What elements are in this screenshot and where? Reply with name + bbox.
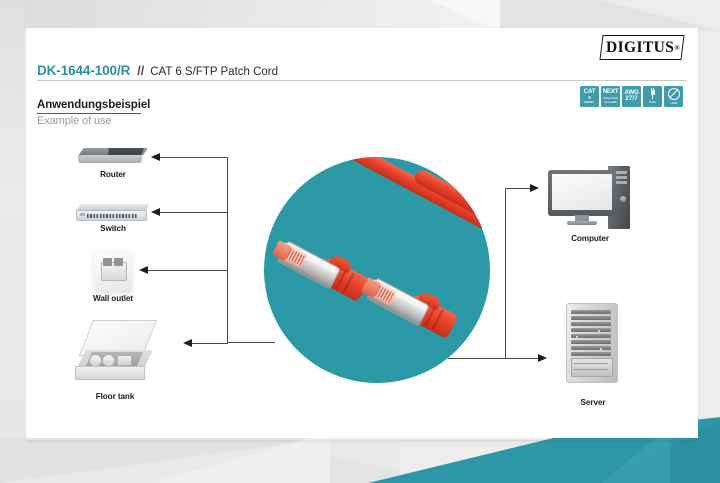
arrow-floor-tank — [183, 339, 192, 347]
title-separator: // — [137, 64, 144, 78]
left-trunk-to-circle — [227, 342, 275, 343]
product-sku: DK-1644-100/R — [37, 63, 130, 78]
digitus-logo: DIGITUS® — [601, 35, 683, 60]
section-heading-en: Example of use — [37, 115, 111, 127]
switch-port-array — [87, 214, 137, 218]
patch-cord-photo — [264, 157, 490, 383]
branch-line-switch — [160, 212, 228, 213]
product-name: CAT 6 S/FTP Patch Cord — [150, 66, 278, 78]
spec-badge-row: CAT 6 ISO/IEC NEXT Power Sum Crosstalk A… — [580, 86, 683, 107]
branch-line-router — [160, 157, 228, 158]
logo-wordmark: DIGITUS — [606, 39, 674, 57]
device-wall-outlet — [94, 253, 132, 293]
left-trunk-line — [227, 157, 228, 343]
section-heading-de: Anwendungsbeispiel — [37, 99, 150, 111]
poe-badge: PoE+ — [643, 86, 662, 107]
label-floor-tank: Floor tank — [78, 392, 152, 401]
wall-outlet-jack-2 — [114, 258, 123, 266]
next-badge: NEXT Power Sum Crosstalk — [601, 86, 620, 107]
right-circle-to-trunk — [448, 358, 506, 359]
floor-tank-data-jack — [117, 355, 132, 366]
branch-line-server — [505, 358, 539, 359]
device-computer — [548, 170, 632, 230]
datasheet-page: DIGITUS® DK-1644-100/R // CAT 6 S/FTP Pa… — [0, 0, 720, 483]
label-switch: Switch — [76, 224, 150, 233]
branch-line-floor-tank — [192, 343, 228, 344]
section-heading-underline — [37, 113, 141, 114]
computer-monitor-screen — [552, 174, 612, 210]
server-drive-bay — [571, 358, 613, 377]
branch-line-computer — [505, 188, 531, 189]
label-computer: Computer — [552, 234, 628, 243]
router-front-face — [78, 155, 142, 163]
poe-badge-label: PoE+ — [649, 101, 656, 104]
device-server — [566, 303, 616, 381]
title-divider — [37, 80, 687, 81]
label-router: Router — [78, 170, 148, 179]
arrow-wall-outlet — [139, 266, 148, 274]
device-floor-tank — [75, 320, 155, 380]
next-badge-line1: NEXT — [603, 89, 619, 95]
label-wall-outlet: Wall outlet — [80, 294, 146, 303]
background-triangle-a — [430, 0, 500, 31]
logo-text: DIGITUS® — [601, 35, 683, 60]
computer-monitor-base — [567, 221, 597, 225]
awg-badge-line2: 27/7 — [625, 96, 637, 102]
cat6-badge: CAT 6 ISO/IEC — [580, 86, 599, 107]
device-router — [78, 148, 148, 166]
branch-line-wall-outlet — [148, 270, 228, 271]
lszh-badge-label: LSZH — [670, 102, 677, 105]
product-title-row: DK-1644-100/R // CAT 6 S/FTP Patch Cord — [37, 63, 687, 78]
cat6-badge-line3: ISO/IEC — [585, 101, 595, 104]
arrow-switch — [151, 208, 160, 216]
arrow-router — [151, 153, 160, 161]
device-switch — [76, 204, 150, 222]
label-server: Server — [568, 398, 618, 407]
floor-tank-front-face — [75, 366, 145, 380]
right-trunk-line — [505, 188, 506, 359]
background-bottom-shape-2 — [150, 432, 330, 483]
next-badge-line3: Crosstalk — [604, 101, 616, 104]
arrow-computer — [530, 184, 539, 192]
background-left-strip — [0, 0, 24, 483]
computer-power-button — [620, 196, 626, 202]
awg-badge: AWG 27/7 — [622, 86, 641, 107]
next-badge-line2: Power Sum — [603, 97, 617, 100]
switch-led — [80, 213, 85, 216]
background-triangle-c — [600, 0, 720, 31]
logo-registered-mark: ® — [674, 44, 680, 52]
wall-outlet-jack-1 — [103, 258, 112, 266]
lszh-badge: LSZH — [664, 86, 683, 107]
arrow-server — [538, 354, 547, 362]
rj45-connector-right — [351, 268, 460, 359]
plug-icon — [649, 90, 657, 99]
no-halogen-icon — [668, 88, 680, 100]
